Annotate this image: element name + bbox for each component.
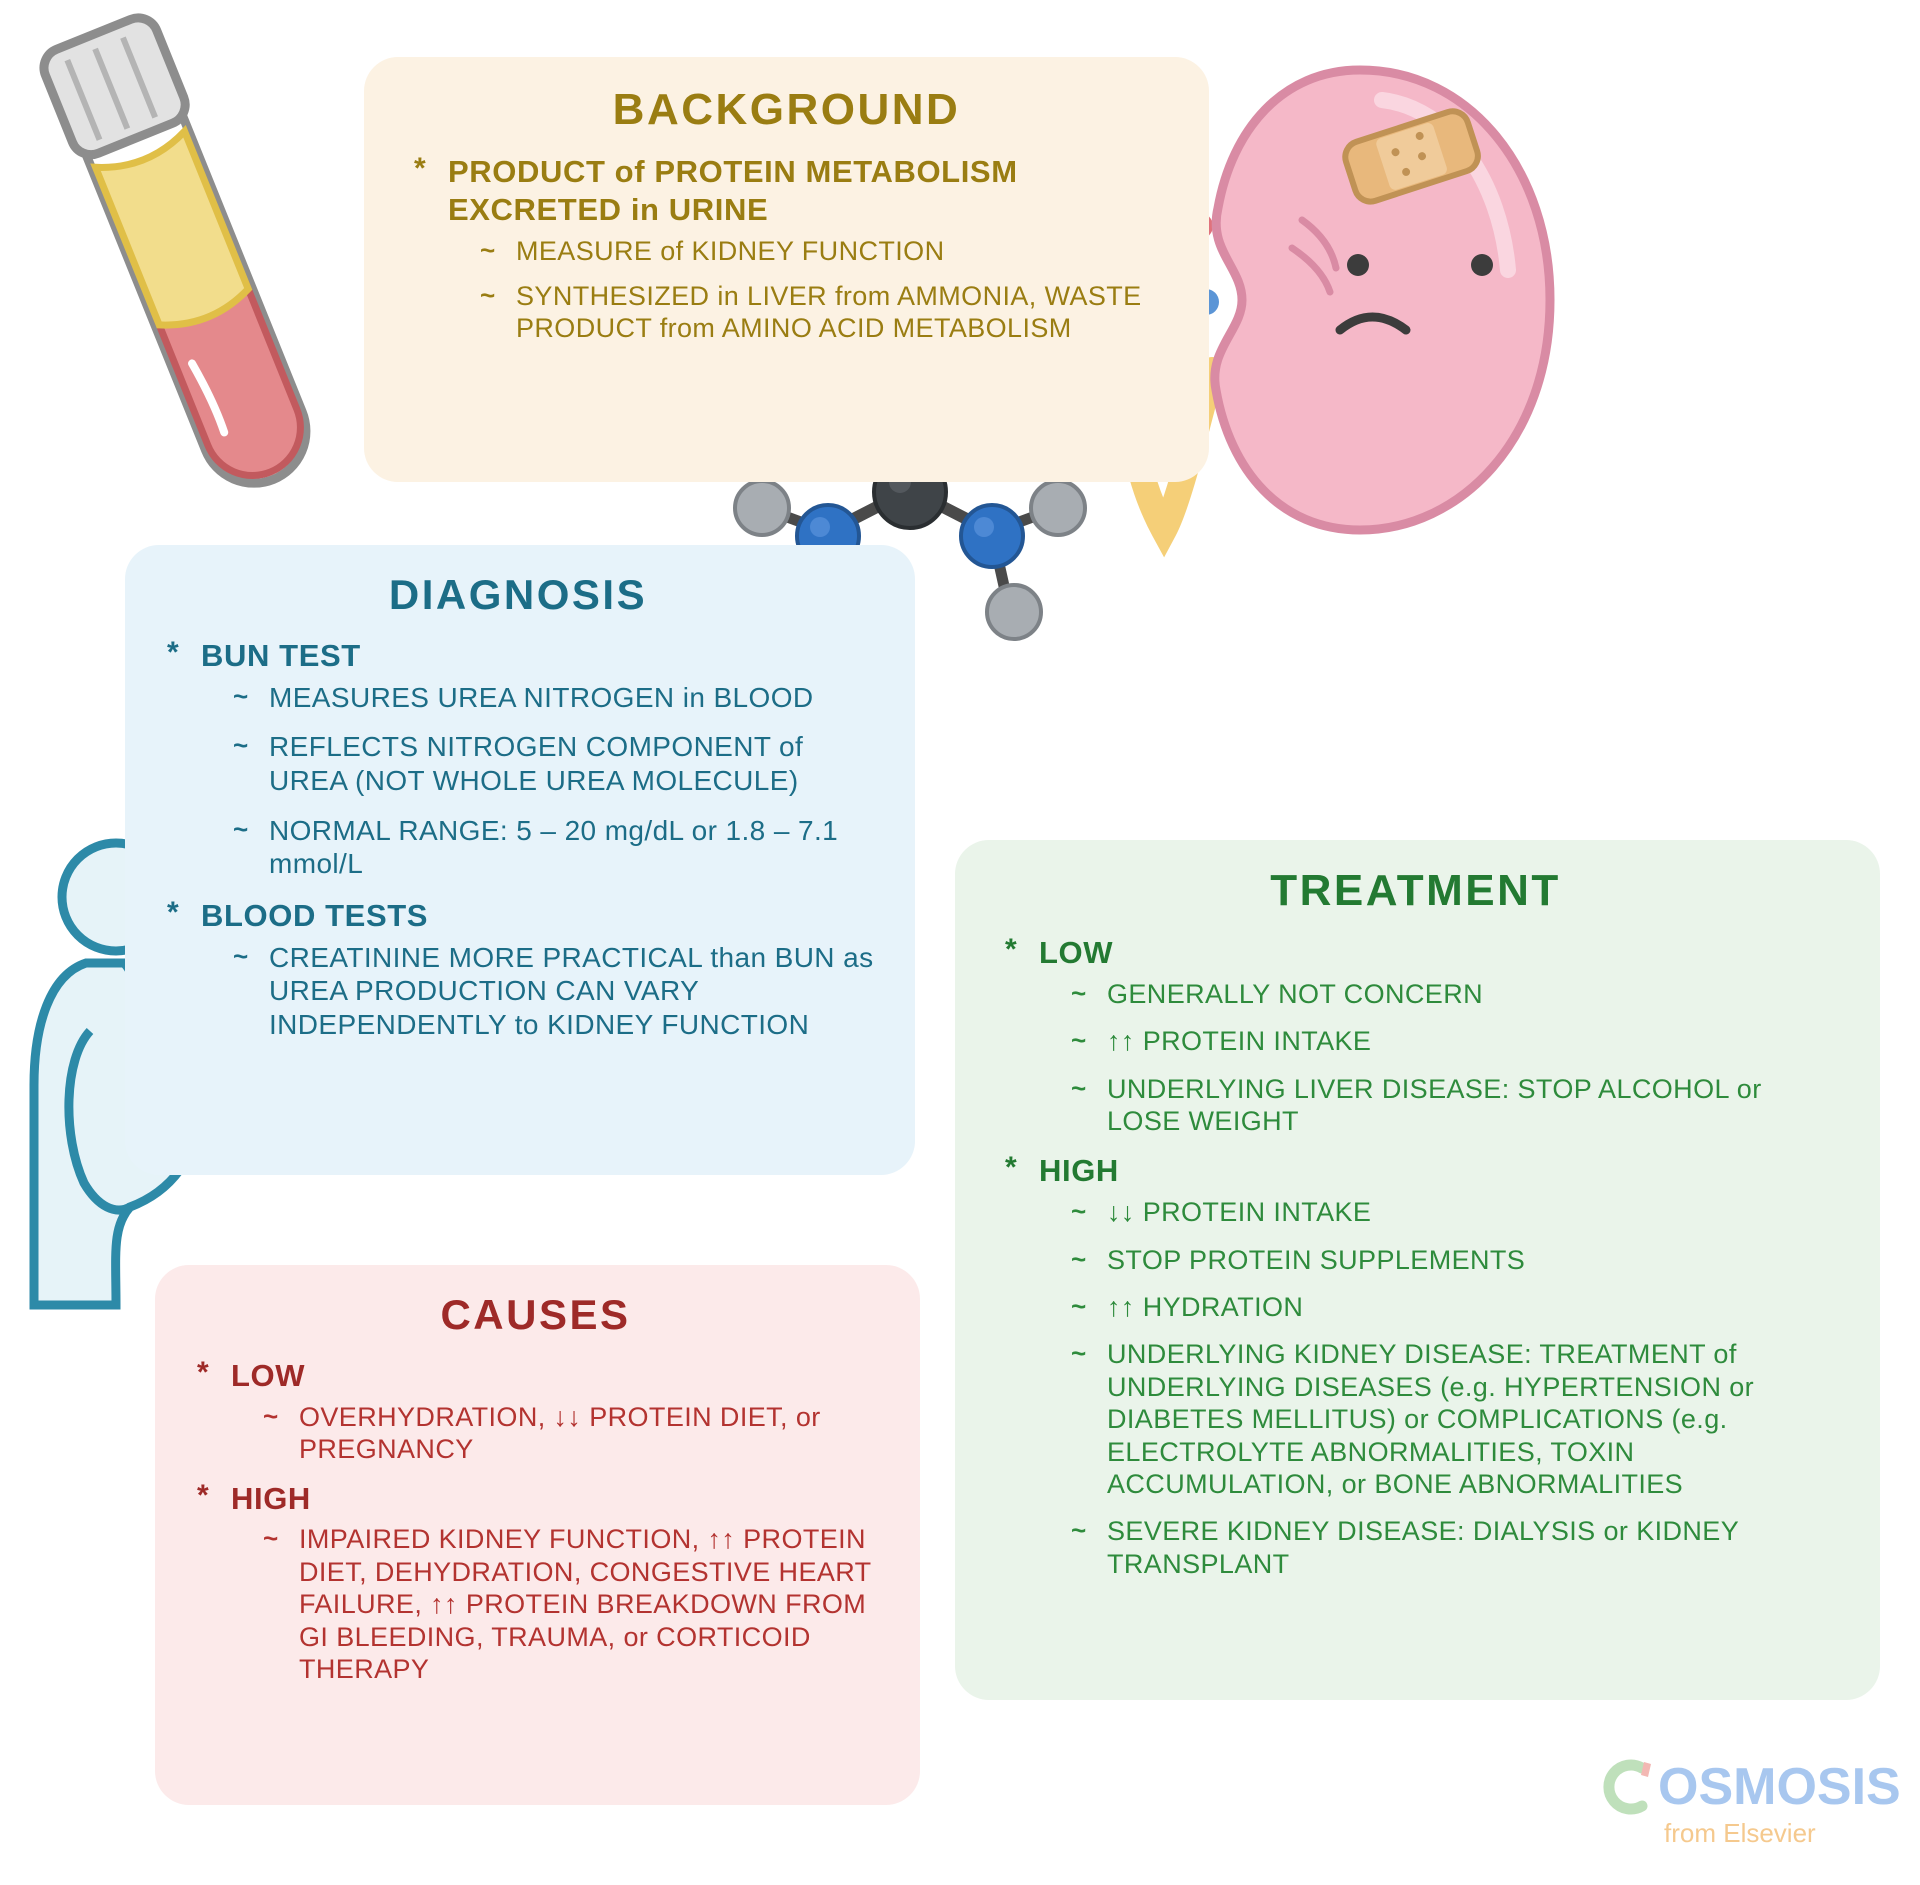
- bullet-text: LOW: [231, 1358, 305, 1393]
- sub-bullet-text: UNDERLYING LIVER DISEASE: STOP ALCOHOL o…: [1107, 1074, 1762, 1136]
- sub-bullets: ~ IMPAIRED KIDNEY FUNCTION, ↑↑ PROTEIN D…: [261, 1523, 880, 1685]
- tilde-bullet-icon: ~: [1071, 1196, 1087, 1227]
- tilde-bullet-icon: ~: [233, 814, 249, 845]
- tilde-bullet-icon: ~: [233, 681, 249, 712]
- bullet-item: * HIGH ~ IMPAIRED KIDNEY FUNCTION, ↑↑ PR…: [191, 1480, 880, 1686]
- sub-bullet-item: ~ ↓↓ PROTEIN INTAKE: [1069, 1196, 1832, 1228]
- sub-bullet-item: ~ MEASURE of KIDNEY FUNCTION: [478, 235, 1165, 267]
- asterisk-bullet-icon: *: [1005, 1150, 1017, 1187]
- sub-bullet-item: ~ SEVERE KIDNEY DISEASE: DIALYSIS or KID…: [1069, 1515, 1832, 1580]
- bullet-text: BUN TEST: [201, 638, 361, 673]
- sub-bullet-text: UNDERLYING KIDNEY DISEASE: TREATMENT of …: [1107, 1339, 1754, 1499]
- card-treatment-bullets: * LOW ~ GENERALLY NOT CONCERN ~ ↑↑ PROTE…: [999, 934, 1832, 1580]
- infographic-canvas: BACKGROUND * PRODUCT of PROTEIN METABOLI…: [0, 0, 1920, 1885]
- bullet-text: PRODUCT of PROTEIN METABOLISM EXCRETED i…: [448, 154, 1018, 227]
- sub-bullet-text: ↑↑ PROTEIN INTAKE: [1107, 1026, 1371, 1056]
- bullet-item: * BUN TEST ~ MEASURES UREA NITROGEN in B…: [161, 637, 875, 881]
- asterisk-bullet-icon: *: [197, 1478, 209, 1515]
- sub-bullet-item: ~ UNDERLYING KIDNEY DISEASE: TREATMENT o…: [1069, 1338, 1832, 1500]
- sub-bullets: ~ CREATININE MORE PRACTICAL than BUN as …: [231, 941, 875, 1042]
- sub-bullet-text: MEASURE of KIDNEY FUNCTION: [516, 236, 944, 266]
- tilde-bullet-icon: ~: [480, 235, 496, 266]
- tilde-bullet-icon: ~: [233, 941, 249, 972]
- sub-bullet-item: ~ ↑↑ PROTEIN INTAKE: [1069, 1025, 1832, 1057]
- bullet-item: * LOW ~ GENERALLY NOT CONCERN ~ ↑↑ PROTE…: [999, 934, 1832, 1137]
- asterisk-bullet-icon: *: [167, 895, 179, 932]
- sub-bullets: ~ ↓↓ PROTEIN INTAKE ~ STOP PROTEIN SUPPL…: [1069, 1196, 1832, 1580]
- sub-bullet-item: ~ IMPAIRED KIDNEY FUNCTION, ↑↑ PROTEIN D…: [261, 1523, 880, 1685]
- tilde-bullet-icon: ~: [1071, 1515, 1087, 1546]
- asterisk-bullet-icon: *: [197, 1355, 209, 1392]
- bullet-text: HIGH: [1039, 1153, 1119, 1188]
- sub-bullet-item: ~ MEASURES UREA NITROGEN in BLOOD: [231, 681, 875, 715]
- osmosis-wordmark: OSMOSIS: [1658, 1761, 1901, 1813]
- tilde-bullet-icon: ~: [263, 1401, 279, 1432]
- sub-bullet-text: REFLECTS NITROGEN COMPONENT of UREA (NOT…: [269, 731, 803, 796]
- sub-bullets: ~ MEASURES UREA NITROGEN in BLOOD ~ REFL…: [231, 681, 875, 881]
- sub-bullet-item: ~ NORMAL RANGE: 5 – 20 mg/dL or 1.8 – 7.…: [231, 814, 875, 881]
- sub-bullet-text: ↑↑ HYDRATION: [1107, 1292, 1303, 1322]
- sub-bullet-item: ~ REFLECTS NITROGEN COMPONENT of UREA (N…: [231, 730, 875, 797]
- bullet-text: LOW: [1039, 935, 1113, 970]
- sub-bullet-item: ~ GENERALLY NOT CONCERN: [1069, 978, 1832, 1010]
- blood-test-tube-illustration: [28, 8, 348, 528]
- sub-bullet-item: ~ UNDERLYING LIVER DISEASE: STOP ALCOHOL…: [1069, 1073, 1832, 1138]
- bullet-item: * HIGH ~ ↓↓ PROTEIN INTAKE ~ STOP PROTEI…: [999, 1152, 1832, 1580]
- bullet-text: HIGH: [231, 1481, 311, 1516]
- card-causes-title: CAUSES: [191, 1291, 880, 1339]
- tilde-bullet-icon: ~: [263, 1523, 279, 1554]
- asterisk-bullet-icon: *: [167, 635, 179, 672]
- sub-bullet-item: ~ ↑↑ HYDRATION: [1069, 1291, 1832, 1323]
- tilde-bullet-icon: ~: [233, 730, 249, 761]
- sub-bullets: ~ OVERHYDRATION, ↓↓ PROTEIN DIET, or PRE…: [261, 1401, 880, 1466]
- sub-bullet-text: CREATININE MORE PRACTICAL than BUN as UR…: [269, 942, 873, 1040]
- tilde-bullet-icon: ~: [1071, 1291, 1087, 1322]
- card-treatment-title: TREATMENT: [999, 866, 1832, 916]
- logo-row: OSMOSIS: [1602, 1758, 1901, 1816]
- tilde-bullet-icon: ~: [480, 280, 496, 311]
- tilde-bullet-icon: ~: [1071, 1025, 1087, 1056]
- asterisk-bullet-icon: *: [1005, 932, 1017, 969]
- card-background-title: BACKGROUND: [408, 85, 1165, 135]
- sub-bullet-item: ~ CREATININE MORE PRACTICAL than BUN as …: [231, 941, 875, 1042]
- tilde-bullet-icon: ~: [1071, 1244, 1087, 1275]
- card-diagnosis: DIAGNOSIS * BUN TEST ~ MEASURES UREA NIT…: [125, 545, 915, 1175]
- sub-bullet-text: SYNTHESIZED in LIVER from AMMONIA, WASTE…: [516, 281, 1142, 343]
- asterisk-bullet-icon: *: [414, 151, 426, 188]
- osmosis-subtext: from Elsevier: [1664, 1818, 1816, 1849]
- sub-bullet-item: ~ STOP PROTEIN SUPPLEMENTS: [1069, 1244, 1832, 1276]
- tilde-bullet-icon: ~: [1071, 1073, 1087, 1104]
- tilde-bullet-icon: ~: [1071, 1338, 1087, 1369]
- bullet-item: * PRODUCT of PROTEIN METABOLISM EXCRETED…: [408, 153, 1165, 345]
- sub-bullet-text: GENERALLY NOT CONCERN: [1107, 979, 1483, 1009]
- sub-bullet-item: ~ OVERHYDRATION, ↓↓ PROTEIN DIET, or PRE…: [261, 1401, 880, 1466]
- sub-bullets: ~ GENERALLY NOT CONCERN ~ ↑↑ PROTEIN INT…: [1069, 978, 1832, 1138]
- sub-bullet-text-normal-range: NORMAL RANGE: 5 – 20 mg/dL or 1.8 – 7.1 …: [269, 815, 838, 880]
- sub-bullet-item: ~ SYNTHESIZED in LIVER from AMMONIA, WAS…: [478, 280, 1165, 345]
- sub-bullet-text: OVERHYDRATION, ↓↓ PROTEIN DIET, or PREGN…: [299, 1402, 821, 1464]
- sub-bullet-text: ↓↓ PROTEIN INTAKE: [1107, 1197, 1371, 1227]
- sub-bullet-text: SEVERE KIDNEY DISEASE: DIALYSIS or KIDNE…: [1107, 1516, 1739, 1578]
- osmosis-logo: OSMOSIS from Elsevier: [1602, 1743, 1892, 1863]
- tilde-bullet-icon: ~: [1071, 978, 1087, 1009]
- card-background-bullets: * PRODUCT of PROTEIN METABOLISM EXCRETED…: [408, 153, 1165, 345]
- sub-bullet-text: STOP PROTEIN SUPPLEMENTS: [1107, 1245, 1525, 1275]
- card-causes: CAUSES * LOW ~ OVERHYDRATION, ↓↓ PROTEIN…: [155, 1265, 920, 1805]
- card-causes-bullets: * LOW ~ OVERHYDRATION, ↓↓ PROTEIN DIET, …: [191, 1357, 880, 1685]
- osmosis-arc-icon: [1602, 1758, 1658, 1816]
- card-treatment: TREATMENT * LOW ~ GENERALLY NOT CONCERN …: [955, 840, 1880, 1700]
- sub-bullets: ~ MEASURE of KIDNEY FUNCTION ~ SYNTHESIZ…: [478, 235, 1165, 345]
- bullet-text: BLOOD TESTS: [201, 898, 428, 933]
- card-diagnosis-bullets: * BUN TEST ~ MEASURES UREA NITROGEN in B…: [161, 637, 875, 1041]
- card-diagnosis-title: DIAGNOSIS: [161, 571, 875, 619]
- bullet-item: * LOW ~ OVERHYDRATION, ↓↓ PROTEIN DIET, …: [191, 1357, 880, 1466]
- card-background: BACKGROUND * PRODUCT of PROTEIN METABOLI…: [364, 57, 1209, 482]
- bullet-item: * BLOOD TESTS ~ CREATININE MORE PRACTICA…: [161, 897, 875, 1042]
- sub-bullet-text: IMPAIRED KIDNEY FUNCTION, ↑↑ PROTEIN DIE…: [299, 1524, 871, 1684]
- sub-bullet-text: MEASURES UREA NITROGEN in BLOOD: [269, 682, 814, 713]
